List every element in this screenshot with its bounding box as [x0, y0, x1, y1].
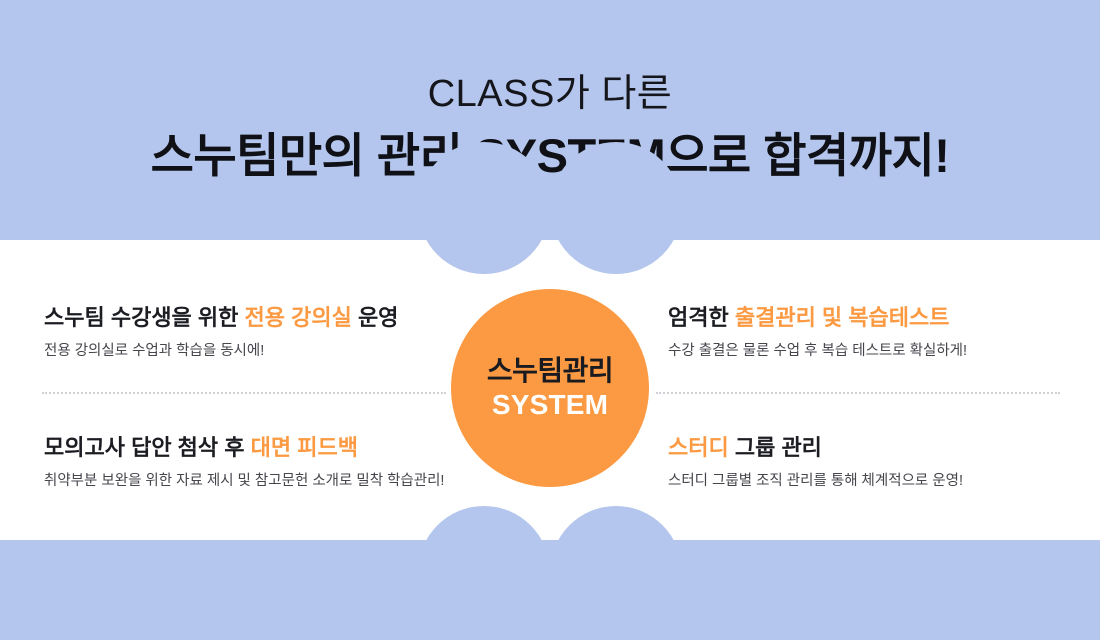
feature-title-highlight: 스터디 [668, 435, 729, 460]
feature-title-highlight: 전용 강의실 [245, 305, 352, 330]
feature-title: 모의고사 답안 첨삭 후 대면 피드백 [44, 434, 474, 462]
feature-title-prefix: 엄격한 [668, 305, 735, 330]
banner-header: CLASS가 다른 스누팀만의 관리 SYSTEM으로 합격까지! [0, 0, 1100, 240]
header-eyebrow: CLASS가 다른 [428, 74, 673, 116]
feature-title-suffix: 그룹 관리 [729, 435, 822, 460]
feature-description: 취약부분 보완을 위한 자료 제시 및 참고문헌 소개로 밀착 학습관리! [44, 472, 474, 492]
header-headline: 스누팀만의 관리 SYSTEM으로 합격까지! [151, 130, 950, 183]
feature-item-bottom-left: 모의고사 답안 첨삭 후 대면 피드백 취약부분 보완을 위한 자료 제시 및 … [44, 398, 474, 528]
promo-banner: CLASS가 다른 스누팀만의 관리 SYSTEM으로 합격까지! 스누팀 수강… [0, 0, 1100, 640]
feature-title-suffix: 운영 [352, 305, 399, 330]
feature-item-top-right: 엄격한 출결관리 및 복습테스트 수강 출결은 물론 수업 후 복습 테스트로 … [668, 268, 1098, 398]
feature-title: 엄격한 출결관리 및 복습테스트 [668, 304, 1098, 332]
feature-title-highlight: 대면 피드백 [251, 435, 358, 460]
badge-line-2: SYSTEM [492, 389, 608, 421]
feature-title-highlight: 출결관리 및 복습테스트 [735, 305, 950, 330]
feature-item-bottom-right: 스터디 그룹 관리 스터디 그룹별 조직 관리를 통해 체계적으로 운영! [668, 398, 1098, 528]
feature-description: 수강 출결은 물론 수업 후 복습 테스트로 확실하게! [668, 342, 1098, 362]
center-circle-badge: 스누팀관리 SYSTEM [451, 289, 649, 487]
feature-description: 전용 강의실로 수업과 학습을 동시에! [44, 342, 474, 362]
feature-title: 스누팀 수강생을 위한 전용 강의실 운영 [44, 304, 474, 332]
feature-item-top-left: 스누팀 수강생을 위한 전용 강의실 운영 전용 강의실로 수업과 학습을 동시… [44, 268, 474, 398]
feature-description: 스터디 그룹별 조직 관리를 통해 체계적으로 운영! [668, 472, 1098, 492]
feature-title: 스터디 그룹 관리 [668, 434, 1098, 462]
feature-title-prefix: 모의고사 답안 첨삭 후 [44, 435, 251, 460]
feature-title-prefix: 스누팀 수강생을 위한 [44, 305, 245, 330]
badge-line-1: 스누팀관리 [487, 355, 613, 387]
